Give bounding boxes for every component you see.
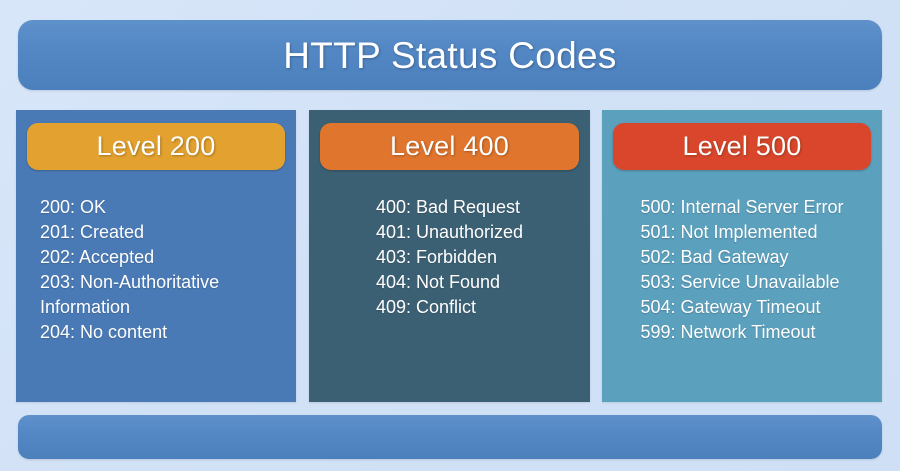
status-code-list-inner: 200: OK 201: Created 202: Accepted 203: … [40, 195, 272, 345]
status-column-500: Level 500 500: Internal Server Error 501… [602, 110, 882, 402]
column-header-badge-400: Level 400 [320, 123, 579, 170]
list-item: 409: Conflict [376, 295, 523, 320]
column-header-label: Level 200 [97, 133, 216, 160]
status-code-list-inner: 400: Bad Request 401: Unauthorized 403: … [376, 195, 523, 320]
list-item: 404: Not Found [376, 270, 523, 295]
column-header-badge-500: Level 500 [613, 123, 871, 170]
list-item: 500: Internal Server Error [640, 195, 843, 220]
bottom-bar [18, 415, 882, 459]
status-column-400: Level 400 400: Bad Request 401: Unauthor… [309, 110, 590, 402]
title-bar: HTTP Status Codes [18, 20, 882, 90]
list-item: 204: No content [40, 320, 272, 345]
slide-canvas: HTTP Status Codes Level 200 200: OK 201:… [0, 0, 900, 471]
list-item: 201: Created [40, 220, 272, 245]
status-code-list-200: 200: OK 201: Created 202: Accepted 203: … [16, 195, 296, 345]
page-title: HTTP Status Codes [283, 37, 616, 74]
list-item: 504: Gateway Timeout [640, 295, 843, 320]
list-item: 401: Unauthorized [376, 220, 523, 245]
list-item: 403: Forbidden [376, 245, 523, 270]
status-code-list-500: 500: Internal Server Error 501: Not Impl… [602, 195, 882, 345]
list-item: 200: OK [40, 195, 272, 220]
list-item: 503: Service Unavailable [640, 270, 843, 295]
column-header-badge-200: Level 200 [27, 123, 285, 170]
list-item: 501: Not Implemented [640, 220, 843, 245]
status-code-list-400: 400: Bad Request 401: Unauthorized 403: … [309, 195, 590, 320]
list-item: 599: Network Timeout [640, 320, 843, 345]
column-header-label: Level 400 [390, 133, 509, 160]
list-item: 203: Non-Authoritative Information [40, 270, 272, 320]
status-code-list-inner: 500: Internal Server Error 501: Not Impl… [640, 195, 843, 345]
column-header-label: Level 500 [683, 133, 802, 160]
list-item: 202: Accepted [40, 245, 272, 270]
list-item: 400: Bad Request [376, 195, 523, 220]
list-item: 502: Bad Gateway [640, 245, 843, 270]
status-column-200: Level 200 200: OK 201: Created 202: Acce… [16, 110, 296, 402]
